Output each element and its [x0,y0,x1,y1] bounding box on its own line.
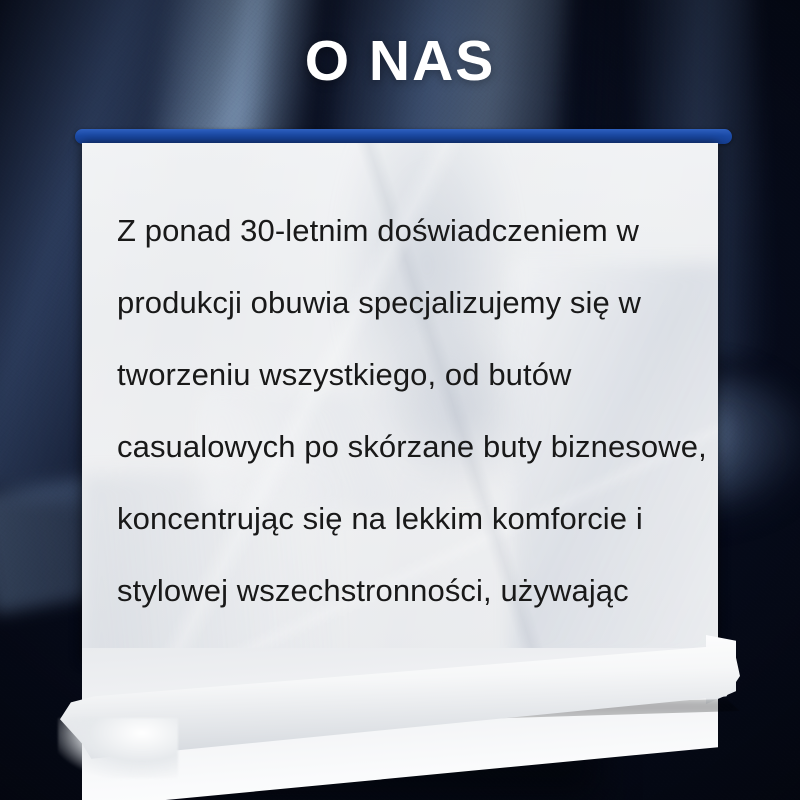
page-title: O NAS [0,33,800,90]
about-us-banner: O NAS Z ponad 30-letnim doświadczeniem w… [0,0,800,800]
paper-sheet: Z ponad 30-letnim doświadczeniem w produ… [82,143,718,748]
paragraph-line: koncentrując się na lekkim komforcie i [117,483,717,555]
about-us-paragraph: Z ponad 30-letnim doświadczeniem w produ… [117,195,717,699]
paragraph-line: produkcji obuwia specjalizujemy się w [117,267,717,339]
paper-curl-tip [58,718,178,778]
paper-surface: Z ponad 30-letnim doświadczeniem w produ… [82,143,718,663]
paragraph-line: Z ponad 30-letnim doświadczeniem w [117,195,717,267]
paragraph-line: stylowej wszechstronności, używając [117,555,717,627]
accent-bar [75,129,732,144]
paragraph-line: tworzeniu wszystkiego, od butów [117,339,717,411]
paragraph-line: casualowych po skórzane buty biznesowe, [117,411,717,483]
